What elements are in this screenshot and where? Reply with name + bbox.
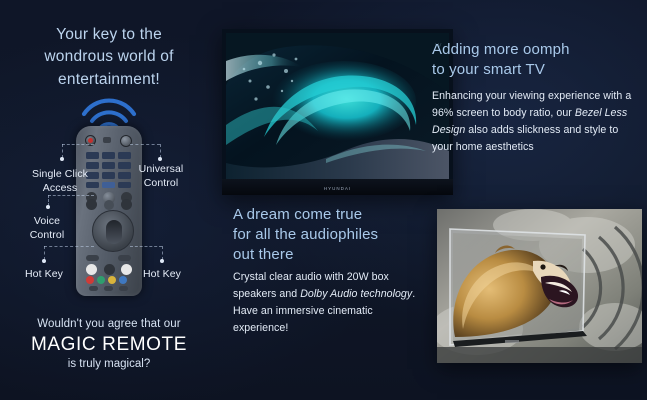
callout-label-line-1: Hot Key [6, 268, 82, 282]
callout-voice-control: Voice Control [8, 215, 86, 242]
section-audio-heading: A dream come true for all the audiophile… [233, 205, 429, 264]
connector-line-hotkey-left [44, 246, 94, 247]
heading-line-2: for all the audiophiles [233, 225, 429, 245]
callout-label-line-1: Voice [8, 215, 86, 229]
connector-stem-hotkey-right [162, 246, 163, 260]
hotkey-center [104, 264, 115, 275]
navigation-wheel [92, 210, 134, 252]
bottom-button-2 [104, 286, 113, 291]
callout-label-line-2: Control [124, 177, 198, 191]
keypad-3 [118, 152, 131, 159]
heading-line-1: Adding more oomph [432, 40, 637, 60]
channel-down-button [121, 199, 132, 210]
connector-dot-hotkey-left [42, 259, 46, 263]
connector-line-hotkey-right [130, 246, 162, 247]
volume-down-button [86, 199, 97, 210]
hotkey-green [97, 276, 105, 284]
hero-headline-line-3: entertainment! [8, 69, 210, 91]
connector-dot-universal [158, 157, 162, 161]
hotkey-netflix [86, 264, 97, 275]
callout-hot-key-left: Hot Key [6, 268, 82, 282]
back-button [86, 255, 99, 261]
callout-universal-control: Universal Control [124, 163, 198, 190]
callout-label-line-1: Universal [124, 163, 198, 177]
hero-headline-line-2: wondrous world of [8, 46, 210, 68]
promo-banner: Your key to the wondrous world of entert… [0, 0, 647, 400]
heading-line-1: A dream come true [233, 205, 429, 225]
connector-dot-hotkey-right [160, 259, 164, 263]
tv-wave-screen: TV [226, 33, 449, 179]
section-smart-tv-body: Enhancing your viewing experience with a… [432, 88, 637, 157]
hero-headline: Your key to the wondrous world of entert… [8, 24, 210, 91]
connector-stem-universal [160, 144, 161, 158]
callout-single-click-access: Single Click Access [2, 168, 118, 195]
hero-headline-line-1: Your key to the [8, 24, 210, 46]
bottom-button-3 [119, 286, 128, 291]
tv-wave-stand: HYUNDAI [222, 179, 453, 195]
closing-line-1: Wouldn't you agree that our [6, 318, 212, 330]
tv-brand-logo: HYUNDAI [324, 186, 351, 191]
hotkey-red [86, 276, 94, 284]
connector-stem-hotkey-left [44, 246, 45, 260]
keypad-2 [102, 152, 115, 159]
connector-line-single-click [62, 144, 94, 145]
connector-dot-voice [46, 205, 50, 209]
connector-dot-single-click [60, 157, 64, 161]
connector-stem-single-click [62, 144, 63, 158]
tv-wave-image: TV HYUNDAI [222, 29, 453, 195]
left-panel: Your key to the wondrous world of entert… [0, 0, 218, 400]
callout-label-line-2: Control [8, 229, 86, 243]
section-audio-body: Crystal clear audio with 20W box speaker… [233, 269, 429, 338]
body-part-2-emphasis: Dolby Audio technology [300, 288, 412, 300]
power-led [88, 138, 93, 143]
home-button [120, 135, 132, 147]
settings-button [104, 200, 114, 210]
callout-hot-key-right: Hot Key [124, 268, 200, 282]
connector-line-universal [130, 144, 160, 145]
section-smart-tv-heading: Adding more oomph to your smart TV [432, 40, 637, 80]
keypad-1 [86, 152, 99, 159]
heading-line-3: out there [233, 245, 429, 265]
scroll-wheel [106, 220, 122, 244]
bottom-button-1 [89, 286, 98, 291]
callout-label-line-2: Access [2, 182, 118, 196]
callout-label-line-1: Hot Key [124, 268, 200, 282]
closing-line-2: MAGIC REMOTE [6, 334, 212, 356]
callout-label-line-1: Single Click [2, 168, 118, 182]
hotkey-yellow [108, 276, 116, 284]
closing-copy: Wouldn't you agree that our MAGIC REMOTE… [6, 318, 212, 370]
top-small-button [103, 137, 111, 143]
heading-line-2: to your smart TV [432, 60, 637, 80]
closing-line-3: is truly magical? [6, 358, 212, 370]
tv-lion-image [437, 209, 642, 363]
exit-button [118, 255, 131, 261]
